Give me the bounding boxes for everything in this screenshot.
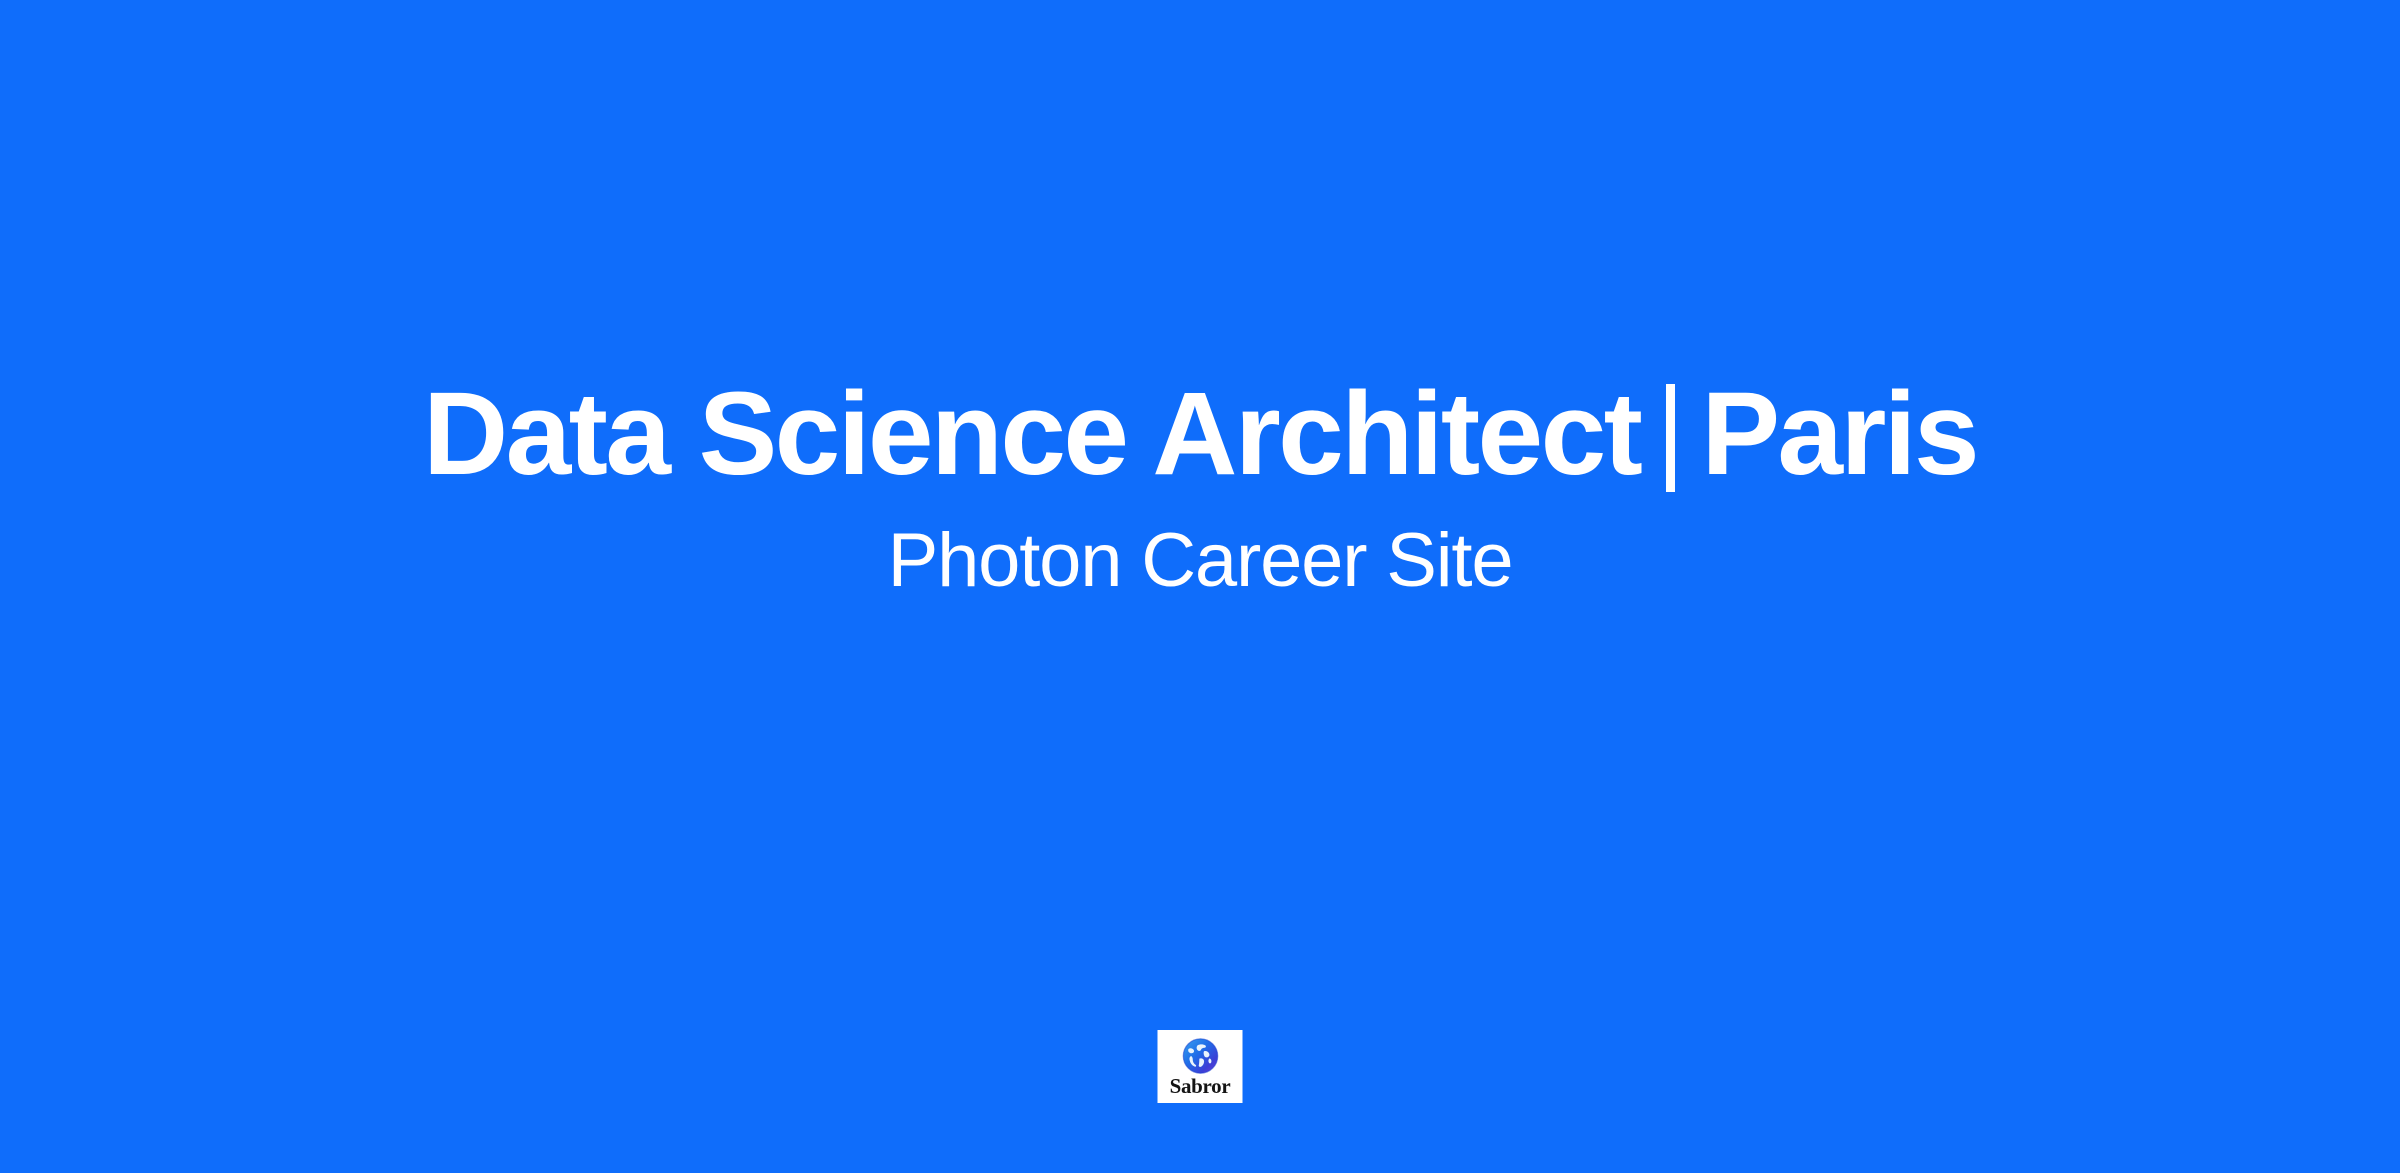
page-subtitle: Photon Career Site [888, 519, 1513, 603]
page-title-role: Data Science Architect [423, 372, 1640, 497]
hero-text-block: Data Science Architect Paris Photon Care… [0, 372, 2400, 603]
share-card: Data Science Architect Paris Photon Care… [0, 0, 2400, 1173]
brand-badge: Sabror [1158, 1030, 1243, 1103]
title-separator-bar [1666, 384, 1675, 492]
globe-icon [1181, 1037, 1219, 1075]
brand-name-label: Sabror [1170, 1076, 1231, 1097]
page-title-location: Paris [1701, 372, 1977, 497]
page-title: Data Science Architect Paris [423, 372, 1977, 497]
